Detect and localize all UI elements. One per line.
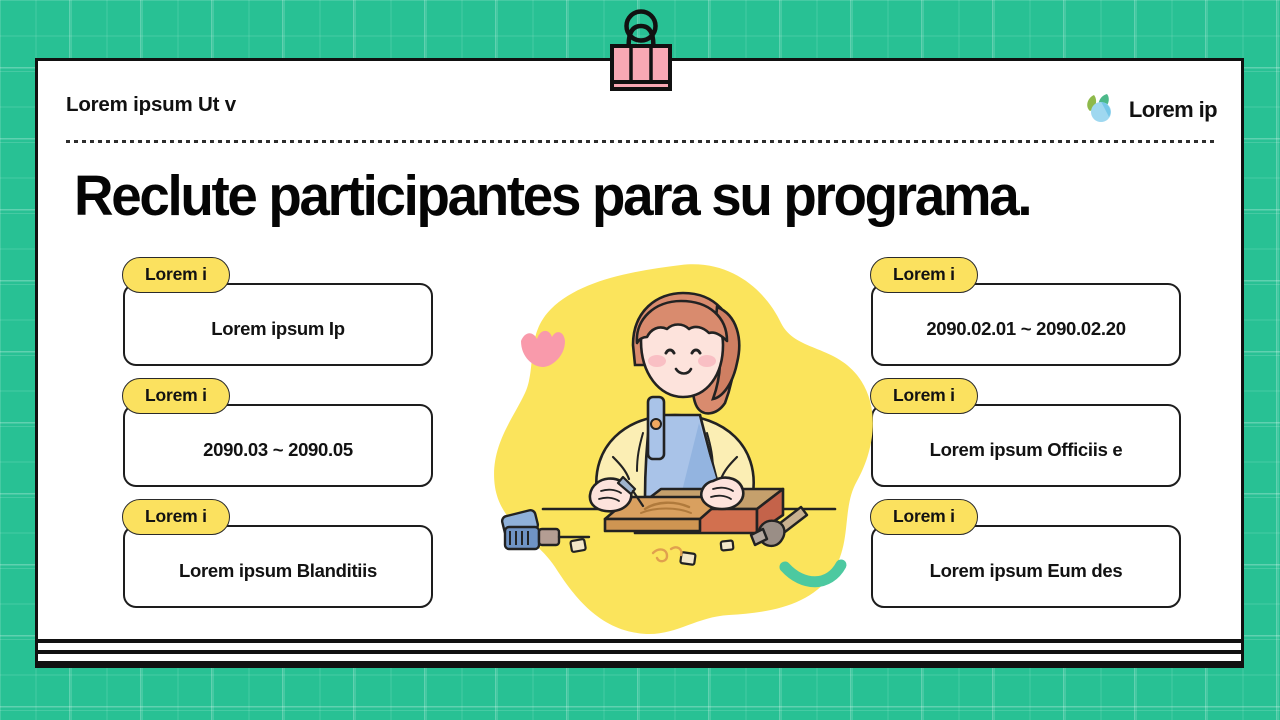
slide-header: Lorem ipsum Ut v Lorem ip — [66, 93, 1217, 145]
woman-woodworking-illustration — [485, 257, 885, 677]
info-card-value: 2090.02.01 ~ 2090.02.20 — [926, 318, 1125, 340]
info-card-value: Lorem ipsum Ip — [211, 318, 345, 340]
info-card-body: Lorem ipsum Ip — [123, 283, 433, 366]
card-rule-3 — [38, 661, 1241, 665]
info-card-pill-label: Lorem i — [122, 378, 230, 414]
info-card-value: Lorem ipsum Blanditiis — [179, 560, 377, 582]
card-bottom-rules — [38, 635, 1241, 665]
info-card-body: 2090.02.01 ~ 2090.02.20 — [871, 283, 1181, 366]
pink-binder-clip-icon — [604, 4, 678, 96]
card-rule-2 — [38, 650, 1241, 654]
right-info-column: 2090.02.01 ~ 2090.02.20 Lorem i Lorem ip… — [871, 257, 1181, 620]
brand-name: Lorem ip — [1129, 97, 1217, 123]
left-info-column: Lorem ipsum Ip Lorem i 2090.03 ~ 2090.05… — [123, 257, 433, 620]
header-divider — [66, 140, 1217, 143]
info-card-pill-label: Lorem i — [870, 499, 978, 535]
info-card[interactable]: 2090.02.01 ~ 2090.02.20 Lorem i — [871, 257, 1181, 377]
info-card-value: Lorem ipsum Eum des — [930, 560, 1123, 582]
info-card-pill-label: Lorem i — [870, 378, 978, 414]
header-title: Lorem ipsum Ut v — [66, 93, 236, 117]
info-card[interactable]: Lorem ipsum Officiis e Lorem i — [871, 378, 1181, 498]
brand-lockup: Lorem ip — [1081, 91, 1217, 128]
card-rule-1 — [38, 639, 1241, 643]
leaf-droplet-logo-icon — [1081, 91, 1121, 128]
info-card-body: Lorem ipsum Blanditiis — [123, 525, 433, 608]
info-card-pill-label: Lorem i — [870, 257, 978, 293]
info-card[interactable]: Lorem ipsum Eum des Lorem i — [871, 499, 1181, 619]
info-card-pill-label: Lorem i — [122, 499, 230, 535]
info-card-body: Lorem ipsum Officiis e — [871, 404, 1181, 487]
slide-card: Lorem ipsum Ut v Lorem ip Reclute partic… — [35, 58, 1244, 668]
info-card-body: 2090.03 ~ 2090.05 — [123, 404, 433, 487]
info-card-value: Lorem ipsum Officiis e — [930, 439, 1123, 461]
page-title: Reclute participantes para su programa. — [74, 167, 1168, 227]
info-card-value: 2090.03 ~ 2090.05 — [203, 439, 353, 461]
info-card-body: Lorem ipsum Eum des — [871, 525, 1181, 608]
info-card-pill-label: Lorem i — [122, 257, 230, 293]
info-card[interactable]: Lorem ipsum Blanditiis Lorem i — [123, 499, 433, 619]
info-card[interactable]: Lorem ipsum Ip Lorem i — [123, 257, 433, 377]
info-card[interactable]: 2090.03 ~ 2090.05 Lorem i — [123, 378, 433, 498]
